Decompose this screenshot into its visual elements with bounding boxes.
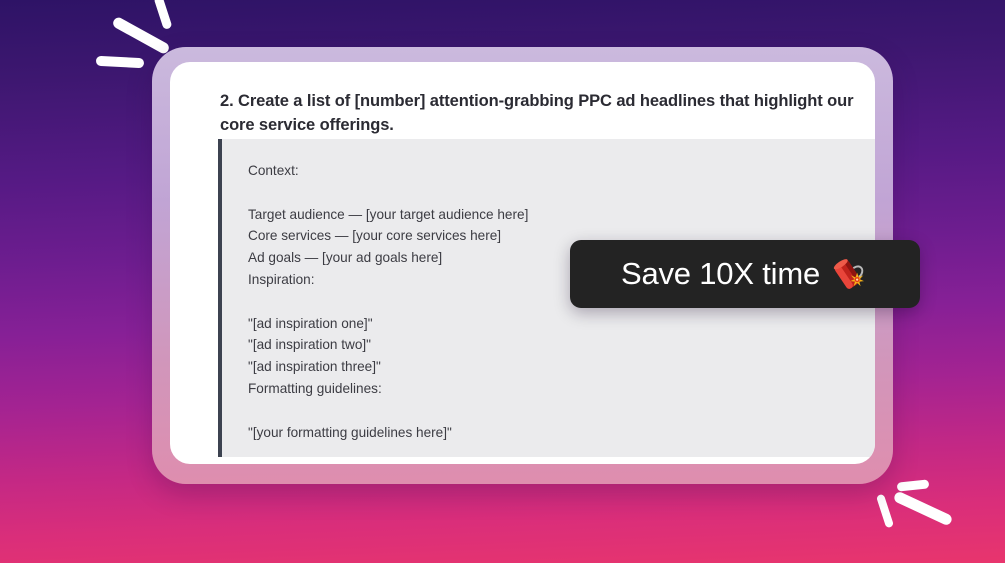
sparkle-stroke: [876, 494, 894, 529]
prompt-line: Formatting guidelines:: [248, 378, 875, 400]
page-title: 2. Create a list of [number] attention-g…: [220, 89, 865, 137]
save-time-badge-label: Save 10X time: [621, 256, 820, 292]
sparkle-stroke: [897, 479, 930, 491]
firecracker-icon: [829, 254, 869, 294]
prompt-line: "[ad inspiration two]": [248, 334, 875, 356]
sparkle-stroke: [893, 490, 954, 526]
promo-graphic: 2. Create a list of [number] attention-g…: [0, 0, 1005, 563]
save-time-badge: Save 10X time: [570, 240, 920, 308]
prompt-line: [248, 400, 875, 422]
sparkle-stroke: [96, 56, 144, 68]
sparkle-stroke: [111, 16, 171, 56]
prompt-line: [248, 182, 875, 204]
prompt-line: Context:: [248, 160, 875, 182]
sparkle-stroke: [153, 0, 172, 30]
prompt-line: "[your formatting guidelines here]": [248, 422, 875, 444]
prompt-line: "[ad inspiration one]": [248, 313, 875, 335]
prompt-line: Target audience — [your target audience …: [248, 204, 875, 226]
prompt-line: "[ad inspiration three]": [248, 356, 875, 378]
sparkle-burst-icon: [865, 465, 970, 553]
